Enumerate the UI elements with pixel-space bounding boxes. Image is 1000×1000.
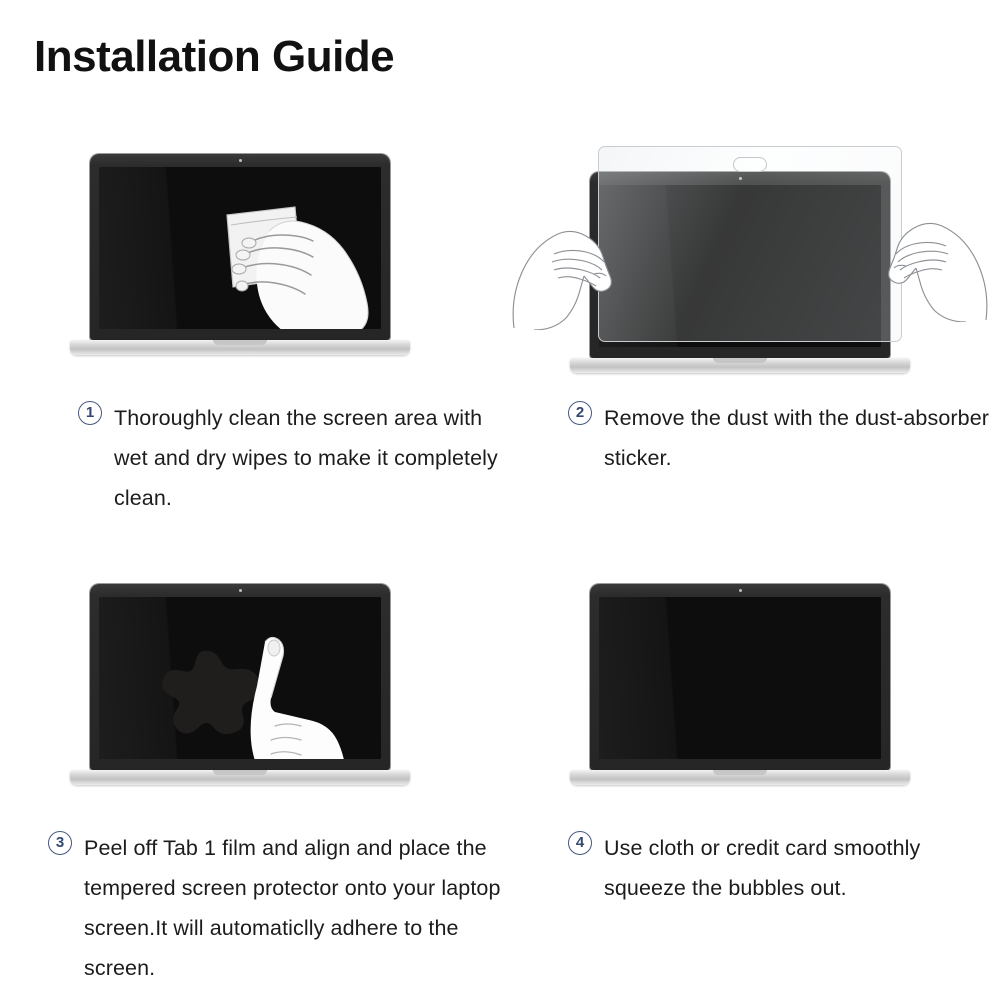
laptop-camera-icon	[239, 159, 242, 162]
laptop-screen	[599, 597, 881, 759]
laptop-lid	[590, 584, 890, 770]
hand-right-holding-film-icon	[866, 202, 990, 322]
pointing-finger-icon	[213, 624, 363, 759]
laptop-trackpad-notch	[713, 358, 767, 363]
screen-glare	[599, 597, 772, 759]
laptop-screen	[99, 167, 381, 329]
step-description-2: Remove the dust with the dust-absorber s…	[604, 398, 998, 478]
laptop-screen	[99, 597, 381, 759]
laptop-trackpad-notch	[213, 340, 267, 345]
laptop-camera-icon	[239, 589, 242, 592]
step-number-badge-1: 1	[78, 401, 102, 425]
laptop-trackpad-notch	[213, 770, 267, 775]
camera-cutout	[733, 157, 767, 172]
protector-application-figure	[500, 140, 1000, 390]
laptop-base	[570, 358, 910, 373]
step-card-3: 3 Peel off Tab 1 film and align and plac…	[0, 570, 500, 1000]
screen-protector-film	[598, 146, 902, 342]
installation-steps-grid: 1 Thoroughly clean the screen area with …	[0, 140, 1000, 1000]
step-description-3: Peel off Tab 1 film and align and place …	[84, 828, 508, 988]
laptop-figure-1	[90, 154, 410, 355]
step-3-text-row: 3 Peel off Tab 1 film and align and plac…	[48, 828, 508, 988]
laptop-lid	[90, 584, 390, 770]
laptop-figure-4	[590, 584, 910, 785]
hand-with-cloth-icon	[209, 191, 377, 329]
step-1-text-row: 1 Thoroughly clean the screen area with …	[78, 398, 498, 518]
laptop-camera-icon	[739, 589, 742, 592]
laptop-figure-3	[90, 584, 410, 785]
laptop-base	[70, 340, 410, 355]
step-description-1: Thoroughly clean the screen area with we…	[114, 398, 498, 518]
step-3-illustration	[0, 570, 500, 820]
step-number-badge-3: 3	[48, 831, 72, 855]
page-title: Installation Guide	[34, 33, 394, 81]
step-1-illustration	[0, 140, 500, 390]
hand-left-holding-film-icon	[510, 210, 634, 330]
step-number-badge-2: 2	[568, 401, 592, 425]
step-card-4: 4 Use cloth or credit card smoothly sque…	[500, 570, 1000, 1000]
step-2-illustration	[500, 140, 1000, 390]
step-4-text-row: 4 Use cloth or credit card smoothly sque…	[568, 828, 998, 908]
step-card-2: 2 Remove the dust with the dust-absorber…	[500, 140, 1000, 570]
laptop-trackpad-notch	[713, 770, 767, 775]
step-number-badge-4: 4	[568, 831, 592, 855]
step-card-1: 1 Thoroughly clean the screen area with …	[0, 140, 500, 570]
laptop-lid	[90, 154, 390, 340]
laptop-base	[570, 770, 910, 785]
laptop-base	[70, 770, 410, 785]
step-4-illustration	[500, 570, 1000, 820]
step-2-text-row: 2 Remove the dust with the dust-absorber…	[568, 398, 998, 478]
step-description-4: Use cloth or credit card smoothly squeez…	[604, 828, 998, 908]
